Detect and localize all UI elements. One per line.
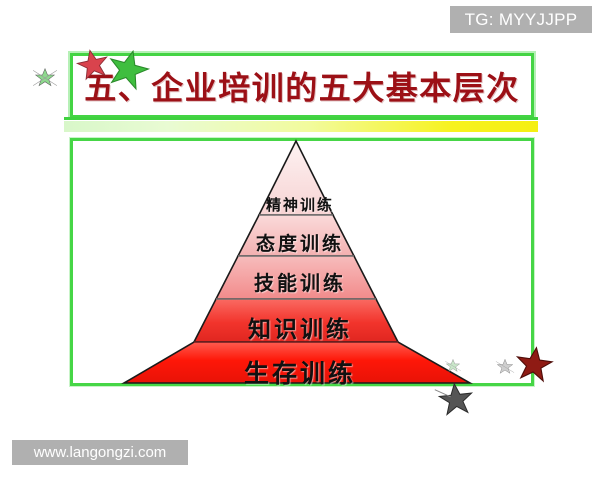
site-watermark: www.langongzi.com xyxy=(12,440,188,465)
title-box: 五、企业培训的五大基本层次 xyxy=(70,53,534,118)
tg-watermark-badge: TG: MYYJJPP xyxy=(450,6,592,33)
slide-canvas: TG: MYYJJPP 五、企业培训的五大基本层次 xyxy=(0,0,600,480)
pyramid-level-label: 技能训练 xyxy=(0,267,600,296)
pyramid-level-label: 态度训练 xyxy=(0,229,600,256)
content-box xyxy=(70,138,534,386)
pyramid-level-label: 生存训练 xyxy=(0,354,600,390)
sparkle-left-icon xyxy=(33,69,57,86)
pyramid-level-label: 知识训练 xyxy=(0,310,600,344)
pyramid-level-label: 精神训练 xyxy=(0,194,600,215)
title-divider xyxy=(64,121,538,132)
page-title: 五、企业培训的五大基本层次 xyxy=(73,56,531,115)
